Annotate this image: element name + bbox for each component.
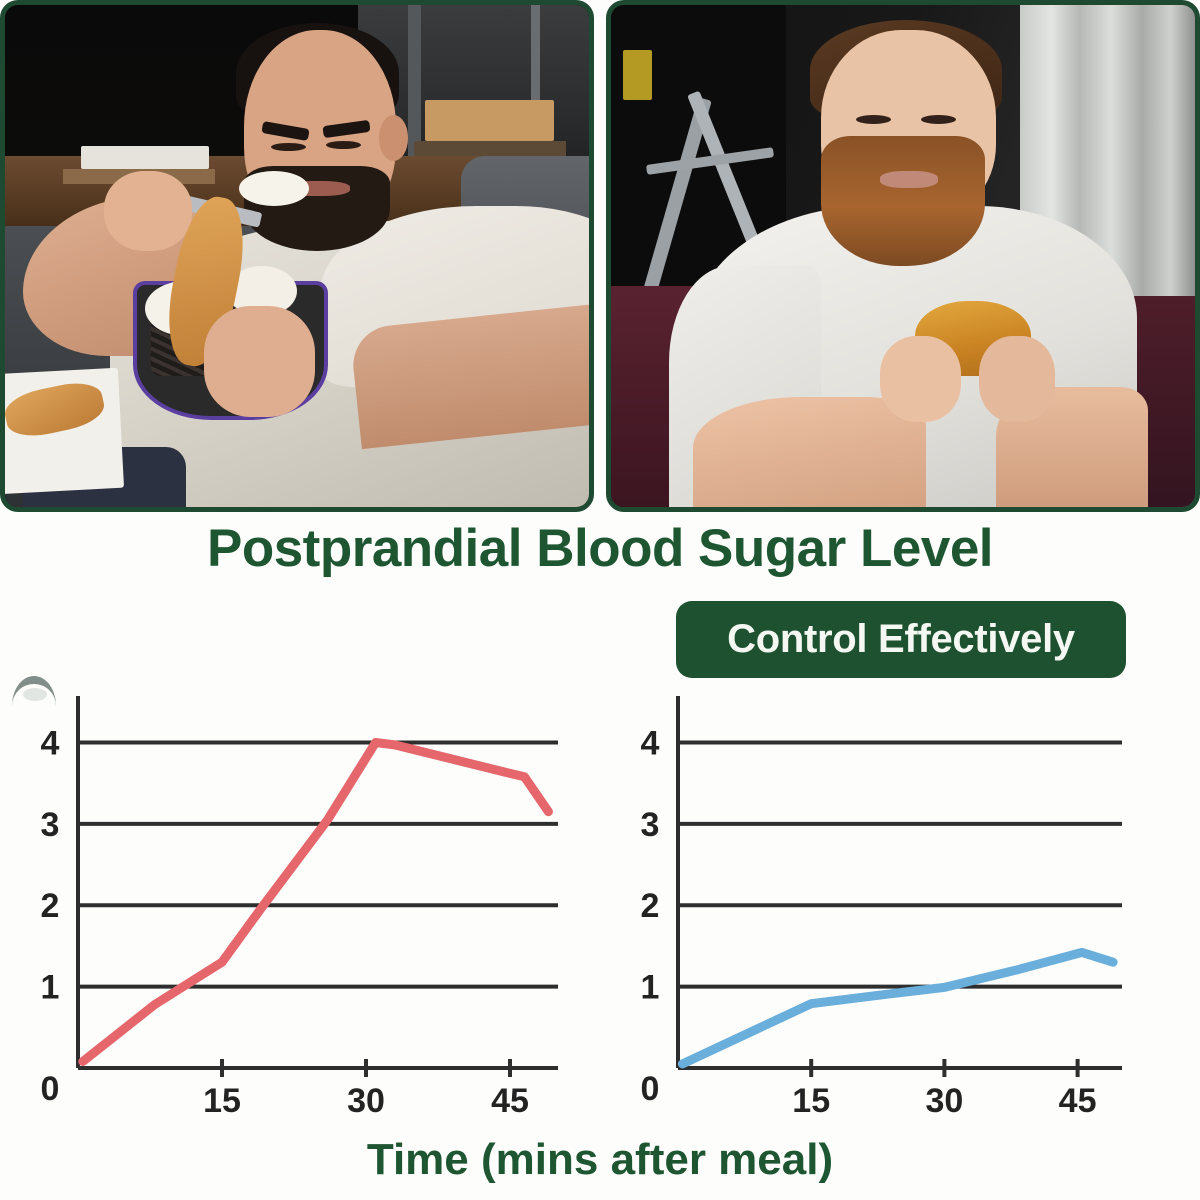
svg-text:4: 4	[641, 724, 660, 762]
svg-text:1: 1	[41, 969, 60, 1007]
svg-text:0: 0	[41, 1070, 60, 1108]
chart-right-axes	[678, 696, 1122, 1068]
svg-text:15: 15	[203, 1082, 241, 1120]
chart-left-grid	[78, 742, 558, 986]
photo-man-eating-burger	[606, 0, 1200, 512]
svg-text:2: 2	[641, 887, 660, 925]
photo-row	[0, 0, 1200, 512]
x-axis-caption: Time (mins after meal)	[0, 1135, 1200, 1185]
page-title: Postprandial Blood Sugar Level	[0, 518, 1200, 579]
svg-text:3: 3	[41, 806, 60, 844]
svg-text:30: 30	[925, 1082, 963, 1120]
chart-right-series-line	[682, 952, 1113, 1064]
chart-left-svg: 01234 153045	[0, 690, 600, 1130]
svg-text:45: 45	[1059, 1082, 1097, 1120]
chart-right-grid	[678, 742, 1122, 986]
chart-left-xlabels: 153045	[203, 1082, 529, 1120]
svg-text:0: 0	[641, 1070, 660, 1108]
svg-text:1: 1	[641, 969, 660, 1007]
svg-text:3: 3	[641, 806, 660, 844]
chart-left-ylabels: 01234	[41, 724, 60, 1108]
svg-text:45: 45	[491, 1082, 529, 1120]
chart-right-svg: 01234 153045	[600, 690, 1200, 1130]
control-effectively-badge: Control Effectively	[676, 601, 1126, 678]
svg-text:15: 15	[792, 1082, 830, 1120]
charts-container: 01234 153045 01234 153045	[0, 690, 1200, 1130]
svg-text:2: 2	[41, 887, 60, 925]
chart-with-control: 01234 153045	[600, 690, 1200, 1130]
infographic-page: Postprandial Blood Sugar Level Control E…	[0, 0, 1200, 1200]
svg-text:30: 30	[347, 1082, 385, 1120]
chart-without-control: 01234 153045	[0, 690, 600, 1130]
chart-left-series-line	[83, 743, 549, 1062]
svg-text:4: 4	[41, 724, 60, 762]
chart-right-ylabels: 01234	[641, 724, 660, 1108]
photo-man-eating-dessert	[0, 0, 594, 512]
chart-right-xlabels: 153045	[792, 1082, 1096, 1120]
